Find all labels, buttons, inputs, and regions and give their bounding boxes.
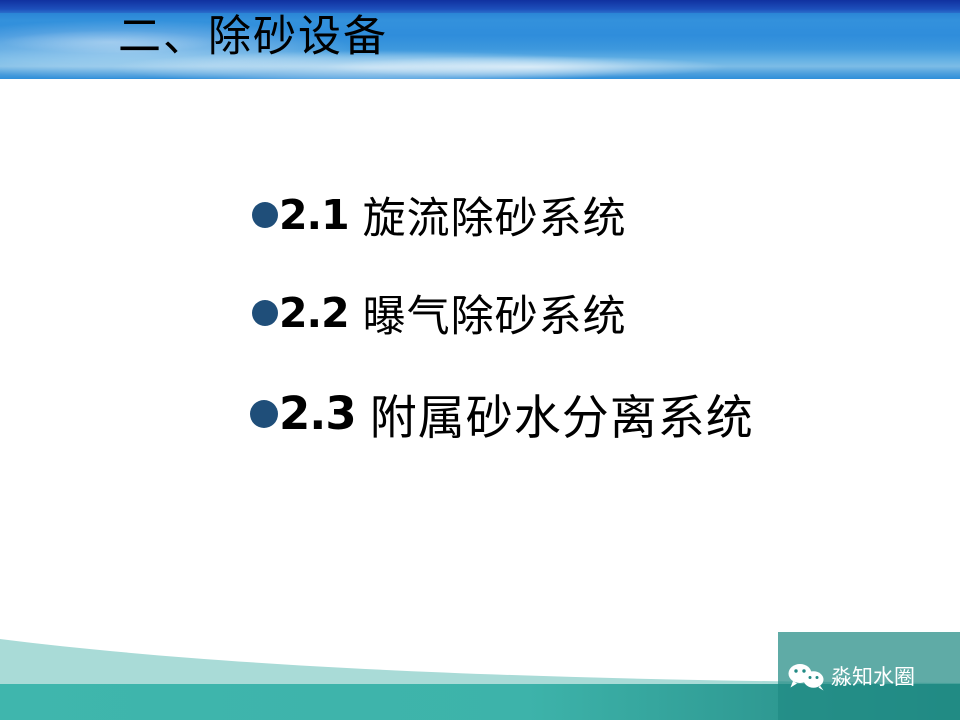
list-item-number: 2.1 [279,191,349,239]
filled-circle-bullet-icon [250,400,278,428]
list-item-number: 2.3 [279,387,356,440]
slide-content-area: 2.1 旋流除砂系统 2.2 曝气除砂系统 2.3 附属砂水分离系统 [0,79,960,634]
slide-header-banner: 二、除砂设备 [0,0,960,79]
cloud-texture-icon [320,52,840,79]
list-item-number: 2.2 [279,289,349,337]
slide-canvas: 二、除砂设备 2.1 旋流除砂系统 2.2 曝气除砂系统 2.3 附属砂水分离系… [0,0,960,720]
wechat-icon [786,661,828,691]
list-item[interactable]: 2.2 曝气除砂系统 [252,282,627,344]
filled-circle-bullet-icon [252,300,278,326]
list-item[interactable]: 2.3 附属砂水分离系统 [250,379,754,448]
list-item-label: 曝气除砂系统 [363,282,627,344]
list-item-label: 附属砂水分离系统 [370,379,754,448]
list-item-label: 旋流除砂系统 [363,184,627,246]
slide-footer: 淼知水圈 [0,625,960,720]
page-title: 二、除砂设备 [118,8,388,68]
filled-circle-bullet-icon [252,202,278,228]
watermark: 淼知水圈 [786,661,915,691]
watermark-label: 淼知水圈 [831,661,915,691]
list-item[interactable]: 2.1 旋流除砂系统 [252,184,627,246]
